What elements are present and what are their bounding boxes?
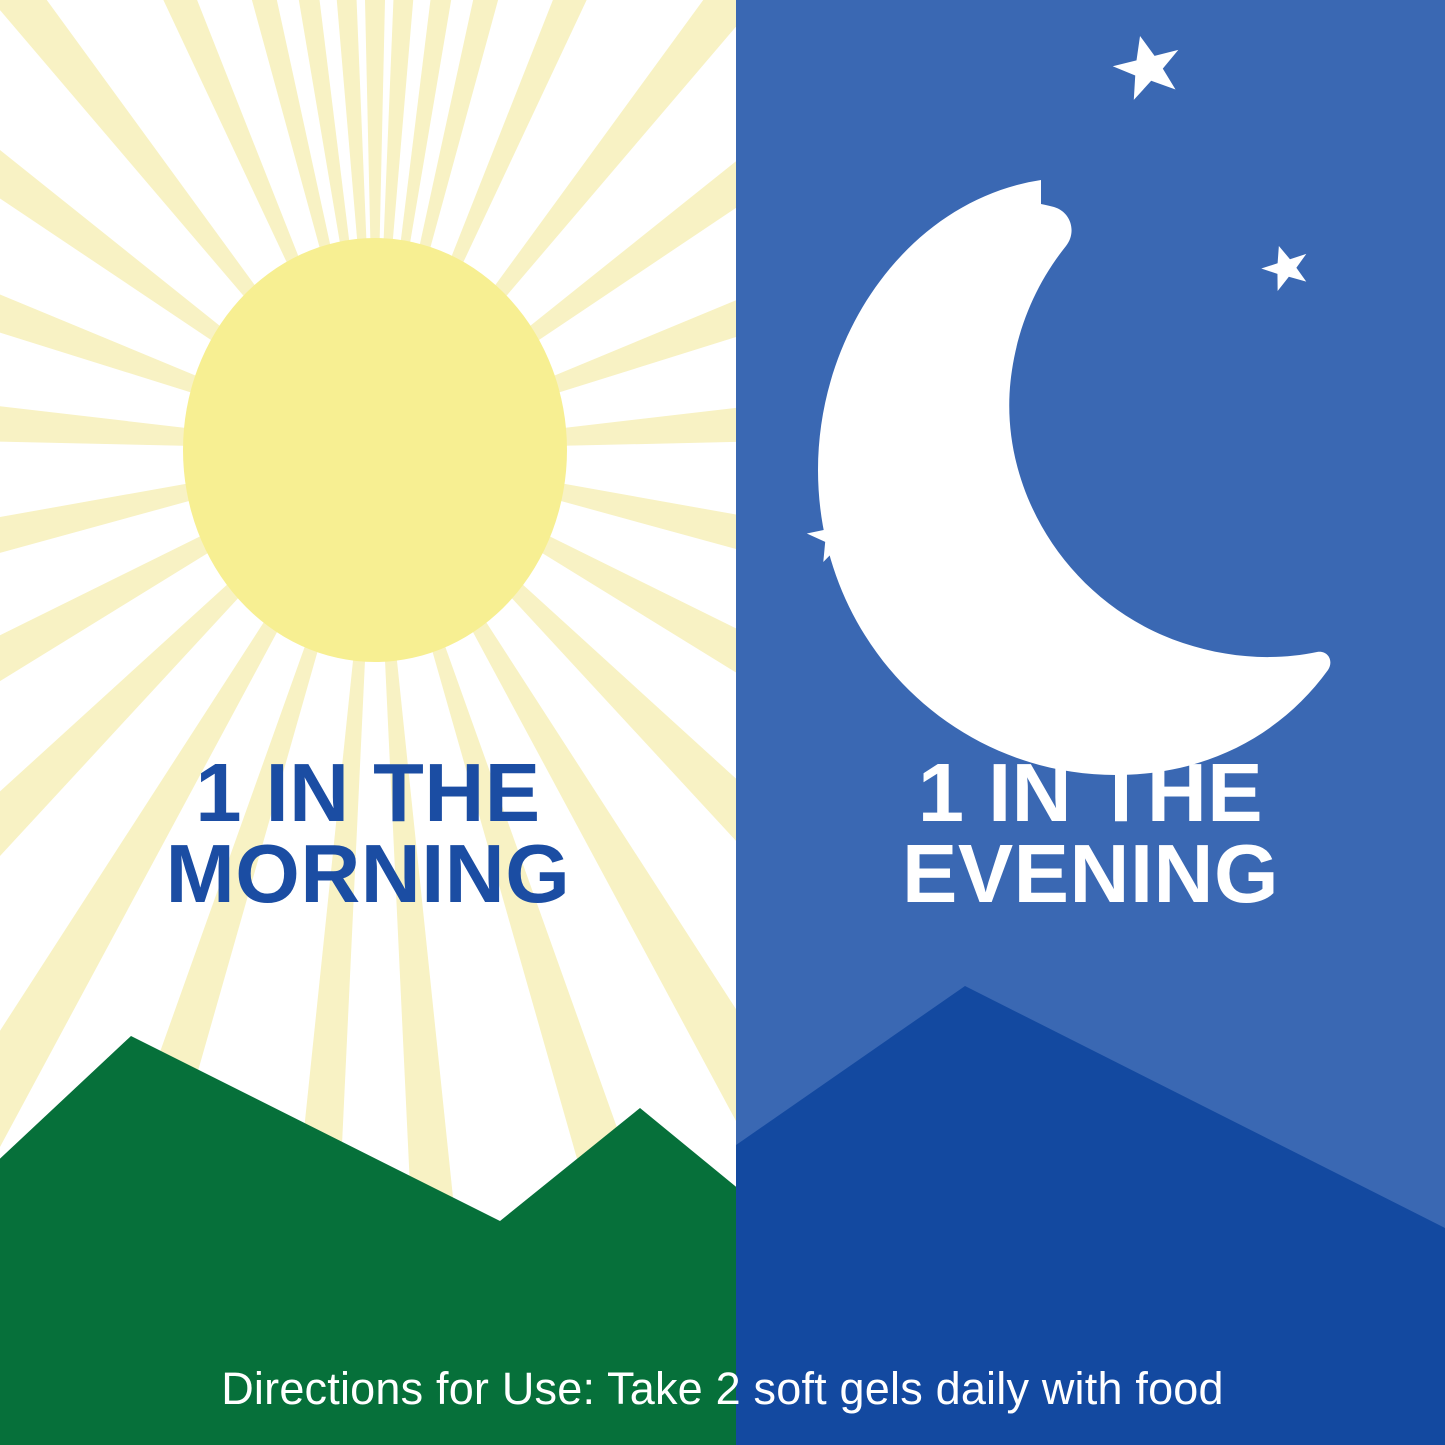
evening-panel: 1 IN THE EVENING xyxy=(736,0,1445,1445)
blue-mountain-icon xyxy=(736,0,1445,1445)
evening-headline: 1 IN THE EVENING xyxy=(736,752,1445,915)
dosage-infographic: 1 IN THE MORNING 1 xyxy=(0,0,1445,1445)
morning-panel: 1 IN THE MORNING xyxy=(0,0,736,1445)
green-mountain-icon xyxy=(0,0,736,1445)
morning-headline: 1 IN THE MORNING xyxy=(0,752,736,915)
